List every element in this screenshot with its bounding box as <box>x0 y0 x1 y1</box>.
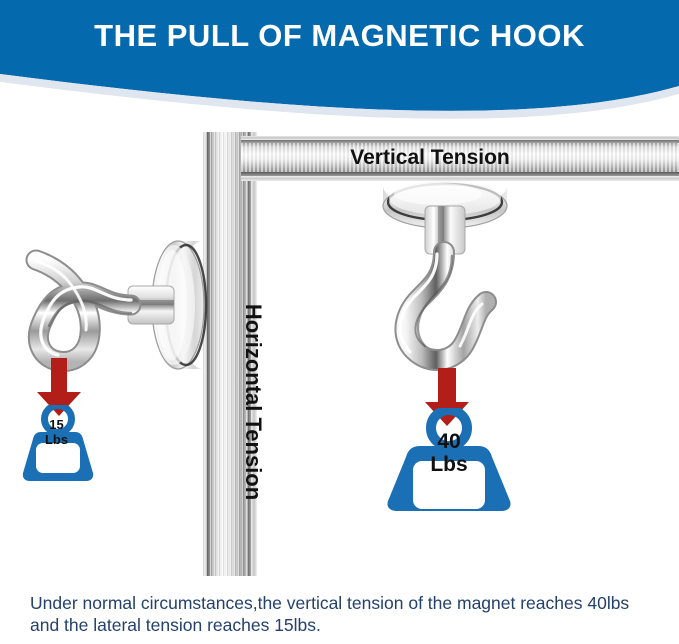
weight-15-text: 15 Lbs <box>34 417 79 447</box>
weight-15lbs: 15 Lbs <box>14 405 102 483</box>
weight-40-text: 40 Lbs <box>416 430 482 476</box>
infographic-canvas: THE PULL OF MAGNETIC HOOK Horizontal Ten… <box>0 0 679 644</box>
weight-15-amount: 15 <box>49 417 63 432</box>
weight-40-unit: Lbs <box>430 453 467 476</box>
weight-15-unit: Lbs <box>45 432 68 447</box>
weight-40lbs: 40 Lbs <box>372 408 527 513</box>
vertical-magnet-hook <box>370 176 520 381</box>
caption-text: Under normal circumstances,the vertical … <box>30 592 660 636</box>
vertical-tension-bar: Vertical Tension <box>241 136 679 181</box>
hook-bar-vertical <box>400 252 486 360</box>
hook-bar <box>36 260 131 362</box>
header-banner: THE PULL OF MAGNETIC HOOK <box>0 0 679 130</box>
weight-40-amount: 40 <box>437 430 460 453</box>
page-title: THE PULL OF MAGNETIC HOOK <box>0 18 679 54</box>
horizontal-tension-label: Horizontal Tension <box>233 192 273 612</box>
vertical-tension-label: Vertical Tension <box>211 143 649 172</box>
